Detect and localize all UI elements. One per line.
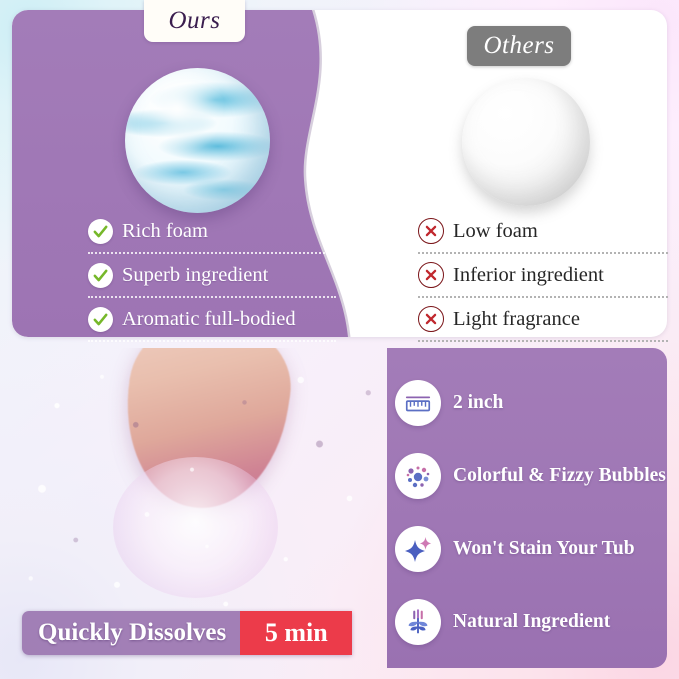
- green-check-icon: [88, 263, 113, 288]
- others-feature-list: Low foam Inferior ingredient Light fragr…: [418, 210, 668, 342]
- list-item-label: 2 inch: [453, 392, 503, 414]
- red-cross-icon: [418, 262, 444, 288]
- feature-list: 2 inch: [395, 366, 667, 658]
- list-item: Rich foam: [88, 210, 336, 254]
- list-item-label: Colorful & Fizzy Bubbles: [453, 465, 666, 487]
- list-item: Low foam: [418, 210, 668, 254]
- ruler-icon: [395, 380, 441, 426]
- list-item-label: Won't Stain Your Tub: [453, 538, 635, 560]
- dissolve-banner-label: Quickly Dissolves: [22, 611, 240, 655]
- red-cross-icon: [418, 306, 444, 332]
- lavender-plant-icon: [395, 599, 441, 645]
- comparison-section: Ours Others Rich foam Superb ingredient …: [12, 10, 667, 337]
- quickly-dissolves-banner: Quickly Dissolves 5 min: [22, 611, 352, 655]
- list-item-label: Natural Ingredient: [453, 611, 610, 633]
- list-item-label: Light fragrance: [453, 308, 580, 331]
- list-item-label: Rich foam: [122, 220, 208, 243]
- list-item-label: Inferior ingredient: [453, 264, 604, 287]
- list-item-label: Superb ingredient: [122, 264, 268, 287]
- others-bath-bomb-image: [462, 78, 590, 206]
- green-check-icon: [88, 307, 113, 332]
- ours-bath-bomb-image: [125, 68, 270, 213]
- bottom-section: Quickly Dissolves 5 min 2 inch: [12, 348, 667, 668]
- list-item: Won't Stain Your Tub: [395, 512, 667, 585]
- list-item: Aromatic full-bodied: [88, 298, 336, 342]
- list-item-label: Low foam: [453, 220, 538, 243]
- tab-ours[interactable]: Ours: [144, 0, 245, 42]
- bubbles-icon: [395, 453, 441, 499]
- tab-others-label: Others: [483, 32, 554, 60]
- feature-panel: 2 inch: [387, 348, 667, 668]
- list-item: 2 inch: [395, 366, 667, 439]
- list-item: Inferior ingredient: [418, 254, 668, 298]
- green-check-icon: [88, 219, 113, 244]
- red-cross-icon: [418, 218, 444, 244]
- list-item: Superb ingredient: [88, 254, 336, 298]
- sparkle-icon: [395, 526, 441, 572]
- list-item: Natural Ingredient: [395, 585, 667, 658]
- list-item: Colorful & Fizzy Bubbles: [395, 439, 667, 512]
- ours-feature-list: Rich foam Superb ingredient Aromatic ful…: [88, 210, 336, 342]
- dissolve-time-badge: 5 min: [240, 611, 352, 655]
- tab-others[interactable]: Others: [467, 26, 571, 66]
- list-item: Light fragrance: [418, 298, 668, 342]
- tab-ours-label: Ours: [168, 7, 220, 35]
- list-item-label: Aromatic full-bodied: [122, 308, 296, 331]
